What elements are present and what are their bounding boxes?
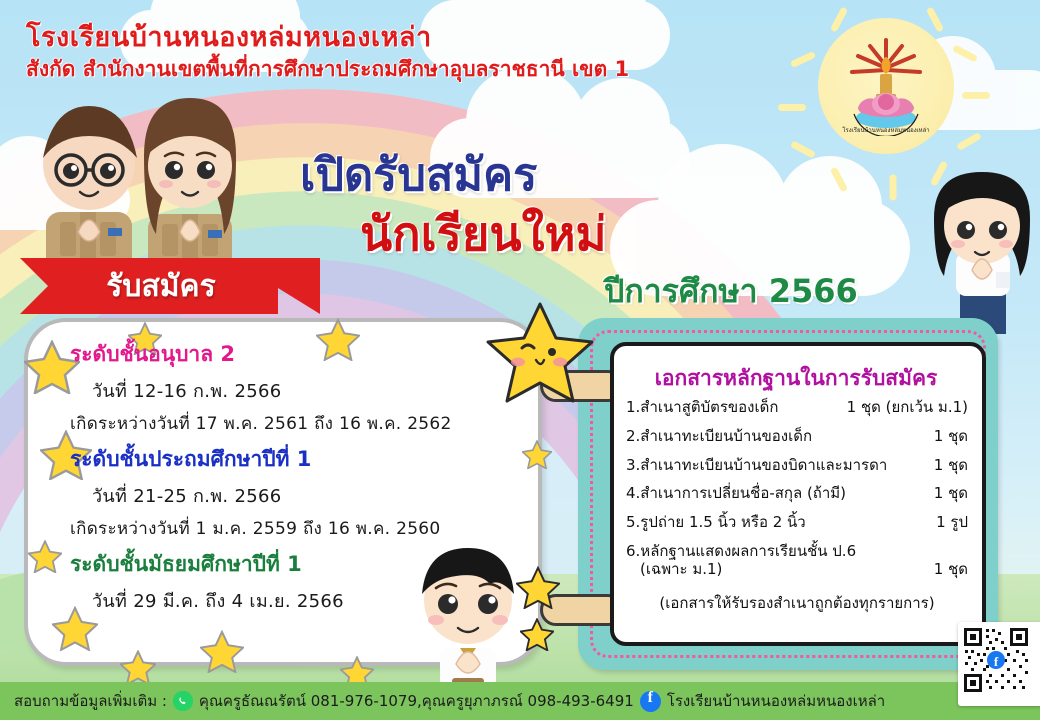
document-name: 4.สำเนาการเปลี่ยนชื่อ-สกุล (ถ้ามี) xyxy=(626,484,854,503)
document-item: 2.สำเนาทะเบียนบ้านของเด็ก 1 ชุด xyxy=(626,427,968,446)
document-item: 3.สำเนาทะเบียนบ้านของบิดาและมารดา 1 ชุด xyxy=(626,456,968,475)
sun-ray xyxy=(778,104,806,111)
document-sub-qty: 1 ชุด xyxy=(934,557,968,581)
document-name: 5.รูปถ่าย 1.5 นิ้ว หรือ 2 นิ้ว xyxy=(626,513,814,532)
girl-student-illustration xyxy=(930,168,1034,338)
affiliation-line: สังกัด สำนักงานเขตพื้นที่การศึกษาประถมศึ… xyxy=(26,57,629,82)
facebook-icon[interactable] xyxy=(640,691,661,712)
title-academic-year: ปีการศึกษา 2566 xyxy=(604,266,858,317)
document-name: 1.สำเนาสูติบัตรของเด็ก xyxy=(626,398,786,417)
footer-contacts: คุณครูธัณณรัตน์ 081-976-1079,คุณครูยุภาภ… xyxy=(199,689,634,713)
footer-facebook-page: โรงเรียนบ้านหนองหล่มหนองเหล่า xyxy=(667,689,885,713)
ribbon-label: รับสมัคร xyxy=(20,258,302,314)
emblem-caption: โรงเรียนบ้านหนองหล่มหนองเหล่า xyxy=(842,126,929,134)
sun-ray xyxy=(890,175,897,201)
facebook-qr-code[interactable]: f xyxy=(958,622,1040,706)
header-block: โรงเรียนบ้านหนองหล่มหนองเหล่า สังกัด สำน… xyxy=(26,22,629,82)
level-item: ระดับชั้นอนุบาล 2 วันที่ 12-16 ก.พ. 2566… xyxy=(70,338,540,437)
document-sub-label: (เฉพาะ ม.1) xyxy=(640,557,722,581)
document-item: 4.สำเนาการเปลี่ยนชื่อ-สกุล (ถ้ามี) 1 ชุด xyxy=(626,484,968,503)
poster-canvas: โรงเรียนบ้านหนองหล่มหนองเหล่า โรงเรียนบ้… xyxy=(0,0,1040,720)
document-qty: 1 ชุด xyxy=(934,427,968,446)
star-decoration xyxy=(28,540,62,577)
document-name: 2.สำเนาทะเบียนบ้านของเด็ก xyxy=(626,427,820,446)
level-item: ระดับชั้นประถมศึกษาปีที่ 1 วันที่ 21-25 … xyxy=(70,443,540,542)
title-new-students: นักเรียนใหม่ xyxy=(360,196,606,271)
school-emblem-logo: โรงเรียนบ้านหนองหล่มหนองเหล่า xyxy=(838,36,934,136)
document-qty: 1 ชุด xyxy=(934,456,968,475)
level-date: วันที่ 12-16 ก.พ. 2566 xyxy=(92,376,540,405)
footer-prompt: สอบถามข้อมูลเพิ่มเติม : xyxy=(14,689,167,713)
document-qty: 1 ชุด xyxy=(934,484,968,503)
sun-ray xyxy=(962,92,990,99)
document-qty: 1 ชุด (ยกเว้น ม.1) xyxy=(847,398,968,417)
level-birth-range: เกิดระหว่างวันที่ 1 ม.ค. 2559 ถึง 16 พ.ค… xyxy=(70,515,540,542)
level-title: ระดับชั้นประถมศึกษาปีที่ 1 xyxy=(70,443,540,476)
level-birth-range: เกิดระหว่างวันที่ 17 พ.ค. 2561 ถึง 16 พ.… xyxy=(70,410,540,437)
school-name: โรงเรียนบ้านหนองหล่มหนองเหล่า xyxy=(26,22,629,53)
level-title: ระดับชั้นอนุบาล 2 xyxy=(70,338,540,371)
star-decoration xyxy=(200,630,244,677)
documents-heading: เอกสารหลักฐานในการรับสมัคร xyxy=(626,362,966,395)
contact-footer: สอบถามข้อมูลเพิ่มเติม : คุณครูธัณณรัตน์ … xyxy=(0,682,1040,720)
svg-text:f: f xyxy=(994,654,999,669)
documents-note: (เอกสารให้รับรองสำเนาถูกต้องทุกรายการ) xyxy=(626,591,968,615)
document-item: 1.สำเนาสูติบัตรของเด็ก 1 ชุด (ยกเว้น ม.1… xyxy=(626,398,968,417)
boy-student-illustration xyxy=(392,548,542,688)
whatsapp-icon[interactable] xyxy=(173,691,193,711)
admission-ribbon: รับสมัคร xyxy=(20,258,320,314)
level-date: วันที่ 21-25 ก.พ. 2566 xyxy=(92,481,540,510)
documents-list: 1.สำเนาสูติบัตรของเด็ก 1 ชุด (ยกเว้น ม.1… xyxy=(626,398,968,615)
document-item: 5.รูปถ่าย 1.5 นิ้ว หรือ 2 นิ้ว 1 รูป xyxy=(626,513,968,532)
document-qty: 1 รูป xyxy=(936,513,968,532)
star-mascot-icon xyxy=(486,300,594,404)
document-name: 3.สำเนาทะเบียนบ้านของบิดาและมารดา xyxy=(626,456,895,475)
